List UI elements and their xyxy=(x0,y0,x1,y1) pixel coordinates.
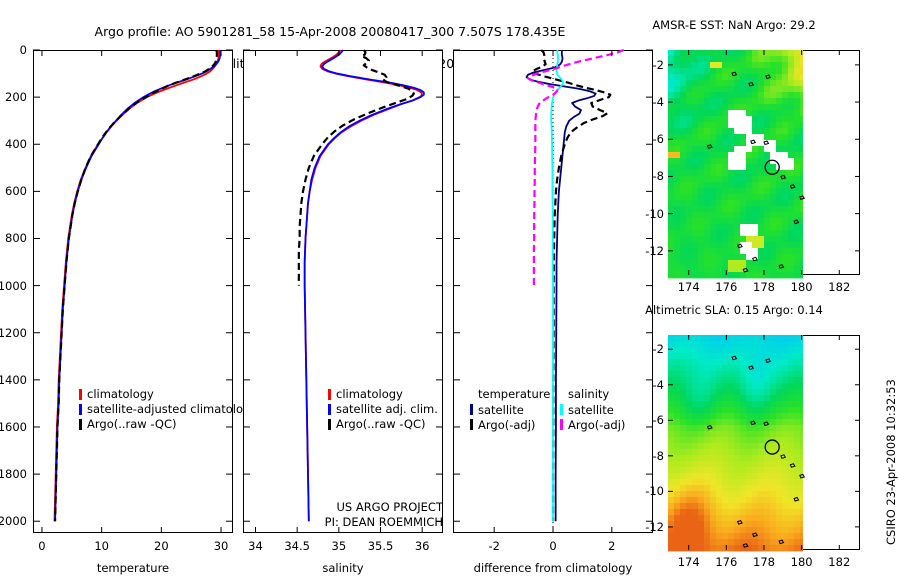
depth-tick-label: 400 xyxy=(0,137,27,151)
legend-item: Argo(..raw -QC) xyxy=(79,417,243,432)
sla-map-canvas xyxy=(668,335,860,550)
depth-tick-label: 1800 xyxy=(0,467,27,481)
sst-map-title: AMSR-E SST: NaN Argo: 29.2 xyxy=(604,18,864,32)
project-credit: US ARGO PROJECT PI: DEAN ROEMMICH xyxy=(243,500,443,530)
map-y-tick-label: -4 xyxy=(636,378,664,392)
temperature-axis-label: temperature xyxy=(33,561,233,575)
x-tick-label: 35.5 xyxy=(368,539,394,553)
map-x-tick-label: 174 xyxy=(678,555,700,569)
legend-color-swatch xyxy=(79,419,82,430)
map-x-tick-label: 176 xyxy=(715,280,737,294)
legend-item: climatology xyxy=(79,387,243,402)
legend-color-swatch xyxy=(560,404,563,415)
depth-tick-label: 0 xyxy=(0,43,27,57)
depth-tick-label: 1200 xyxy=(0,326,27,340)
x-tick-label: 20 xyxy=(154,539,169,553)
legend-item: Argo(..raw -QC) xyxy=(328,417,438,432)
legend-color-swatch xyxy=(328,389,331,400)
depth-tick-label: 200 xyxy=(0,90,27,104)
temperature-plot-canvas xyxy=(33,50,233,533)
legend-item-label: Argo(..raw -QC) xyxy=(336,417,426,432)
credit-line-2: PI: DEAN ROEMMICH xyxy=(325,515,443,529)
map-x-tick-label: 180 xyxy=(791,555,813,569)
legend-column-header: temperature xyxy=(470,387,560,402)
legend-item: climatology xyxy=(328,387,438,402)
sla-map-title: Altimetric SLA: 0.15 Argo: 0.14 xyxy=(604,303,864,317)
map-x-tick-label: 180 xyxy=(791,280,813,294)
depth-tick-label: 1400 xyxy=(0,373,27,387)
x-tick-label: 0 xyxy=(38,539,45,553)
legend-item-label: climatology xyxy=(336,387,403,402)
depth-tick-label: 1600 xyxy=(0,420,27,434)
legend-item-label: satellite-adjusted climatolo xyxy=(87,402,243,417)
legend-item-label: satellite adj. clim. xyxy=(336,402,438,417)
legend-item: Argo(-adj) xyxy=(470,417,560,432)
map-y-tick-label: -12 xyxy=(636,520,664,534)
x-tick-label: 30 xyxy=(214,539,229,553)
map-x-tick-label: 178 xyxy=(753,280,775,294)
legend-item-label: Argo(-adj) xyxy=(568,418,625,432)
map-y-tick-label: -12 xyxy=(636,244,664,258)
map-x-tick-label: 182 xyxy=(828,555,850,569)
map-y-tick-label: -2 xyxy=(636,342,664,356)
csiro-timestamp: CSIRO 23-Apr-2008 10:32:53 xyxy=(884,379,898,545)
map-y-tick-label: -8 xyxy=(636,169,664,183)
legend-item-label: satellite xyxy=(568,403,614,417)
salinity-axis-label: salinity xyxy=(243,561,443,575)
map-y-tick-label: -2 xyxy=(636,58,664,72)
legend-color-swatch xyxy=(79,389,82,400)
legend-column: temperaturesatelliteArgo(-adj) xyxy=(470,387,560,432)
x-tick-label: 0 xyxy=(549,539,556,553)
legend-item-label: climatology xyxy=(87,387,154,402)
depth-tick-label: 600 xyxy=(0,184,27,198)
x-tick-label: 34.5 xyxy=(284,539,310,553)
legend-color-swatch xyxy=(470,419,473,430)
x-tick-label: 34 xyxy=(248,539,263,553)
credit-line-1: US ARGO PROJECT xyxy=(336,500,443,514)
x-tick-label: 2 xyxy=(608,539,615,553)
x-tick-label: 10 xyxy=(94,539,109,553)
map-y-tick-label: -10 xyxy=(636,207,664,221)
map-x-tick-label: 174 xyxy=(678,280,700,294)
legend-item-label: Argo(-adj) xyxy=(478,418,535,432)
difference-axis-label: difference from climatology xyxy=(453,561,653,575)
x-tick-label: 36 xyxy=(415,539,430,553)
legend-item: satellite adj. clim. xyxy=(328,402,438,417)
depth-tick-label: 800 xyxy=(0,231,27,245)
legend-color-swatch xyxy=(560,419,563,430)
x-tick-label: -2 xyxy=(488,539,499,553)
legend-item: satellite-adjusted climatolo xyxy=(79,402,243,417)
difference-legend: temperaturesatelliteArgo(-adj)salinitysa… xyxy=(470,387,650,432)
map-y-tick-label: -4 xyxy=(636,95,664,109)
depth-tick-label: 2000 xyxy=(0,514,27,528)
map-y-tick-label: -8 xyxy=(636,449,664,463)
legend-color-swatch xyxy=(328,419,331,430)
temperature-legend: climatologysatellite-adjusted climatoloA… xyxy=(79,387,243,432)
salinity-legend: climatologysatellite adj. clim.Argo(..ra… xyxy=(328,387,438,432)
legend-item-label: Argo(..raw -QC) xyxy=(87,417,177,432)
map-y-tick-label: -6 xyxy=(636,413,664,427)
legend-color-swatch xyxy=(328,404,331,415)
map-x-tick-label: 178 xyxy=(753,555,775,569)
difference-plot-canvas xyxy=(453,50,653,533)
depth-tick-label: 1000 xyxy=(0,279,27,293)
x-tick-label: 35 xyxy=(332,539,347,553)
legend-color-swatch xyxy=(470,404,473,415)
title-line-1: Argo profile: AO 5901281_58 15-Apr-2008 … xyxy=(95,24,566,39)
map-y-tick-label: -6 xyxy=(636,132,664,146)
sst-map-canvas xyxy=(668,50,860,275)
legend-color-swatch xyxy=(79,404,82,415)
legend-item: satellite xyxy=(470,402,560,417)
salinity-plot-canvas xyxy=(243,50,443,533)
legend-item-label: satellite xyxy=(478,403,524,417)
map-x-tick-label: 176 xyxy=(715,555,737,569)
map-y-tick-label: -10 xyxy=(636,484,664,498)
map-x-tick-label: 182 xyxy=(828,280,850,294)
